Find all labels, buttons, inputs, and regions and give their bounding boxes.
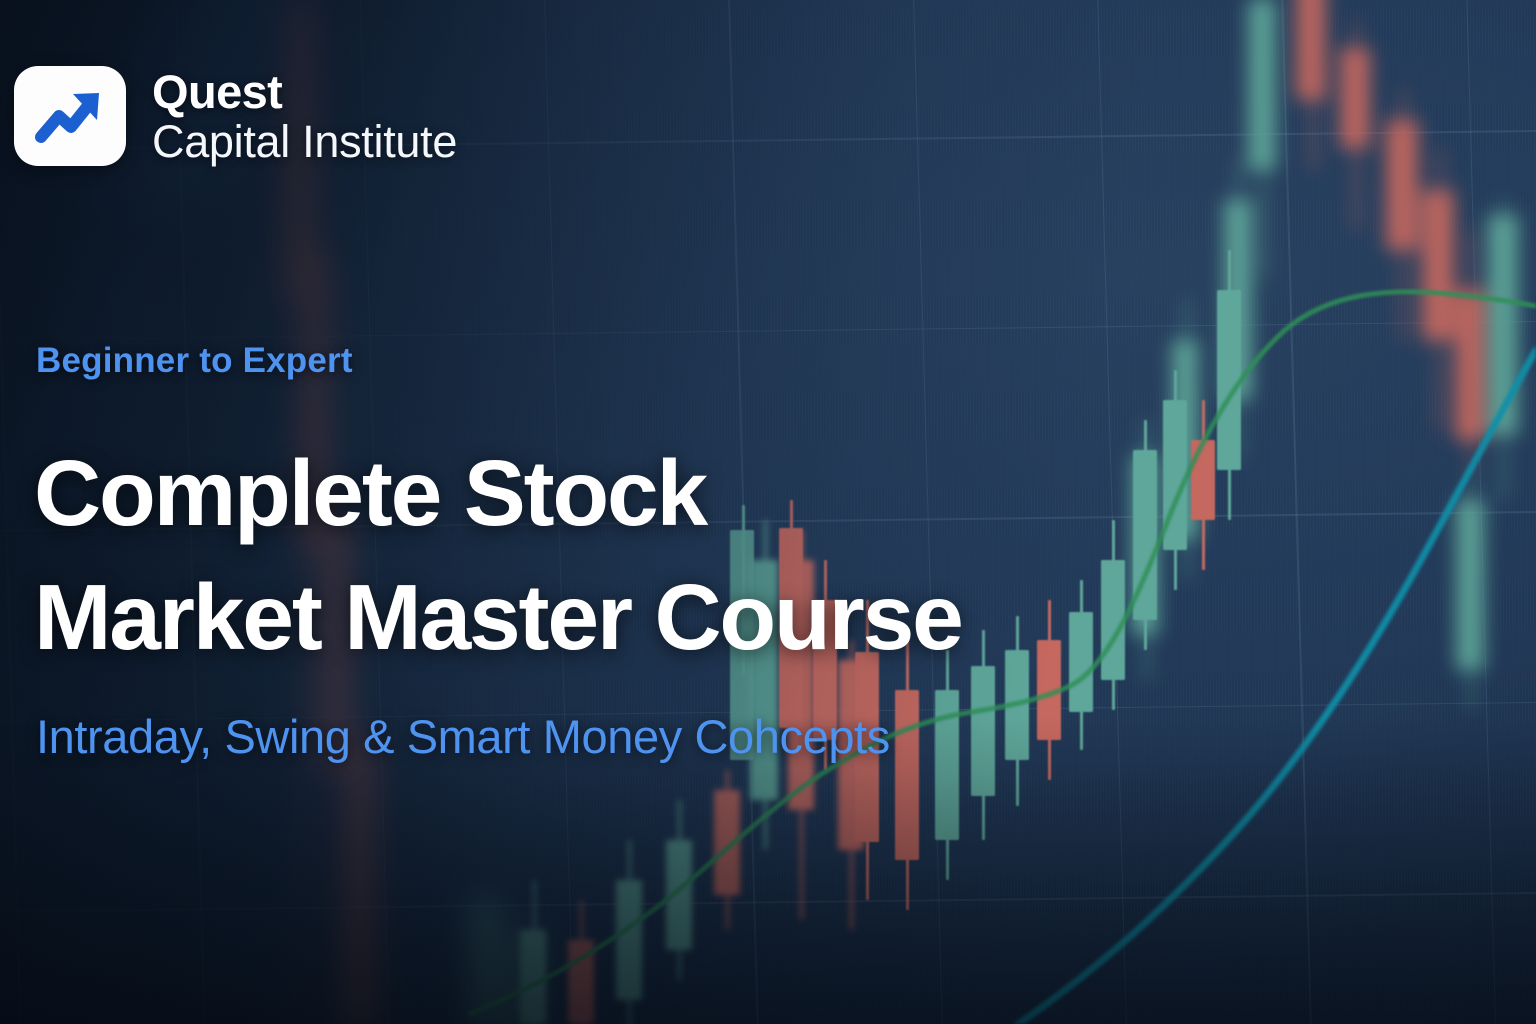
- brand-name: Quest: [152, 68, 457, 115]
- page-title: Complete Stock Market Master Course: [34, 432, 962, 679]
- page-subtitle: Intraday, Swing & Smart Money Cohcepts: [36, 709, 890, 764]
- poster-canvas: Quest Capital Institute Beginner to Expe…: [0, 0, 1536, 1024]
- logo-tile: [14, 66, 126, 166]
- page-title-line-2: Market Master Course: [34, 556, 962, 680]
- brand-text-block: Quest Capital Institute: [152, 68, 457, 164]
- brand-subname: Capital Institute: [152, 119, 457, 164]
- page-title-line-1: Complete Stock: [34, 432, 962, 556]
- eyebrow-label: Beginner to Expert: [36, 341, 353, 381]
- trending-up-arrow-icon: [33, 85, 107, 147]
- brand-lockup: Quest Capital Institute: [14, 66, 457, 166]
- poster-content: Quest Capital Institute Beginner to Expe…: [0, 0, 1536, 1024]
